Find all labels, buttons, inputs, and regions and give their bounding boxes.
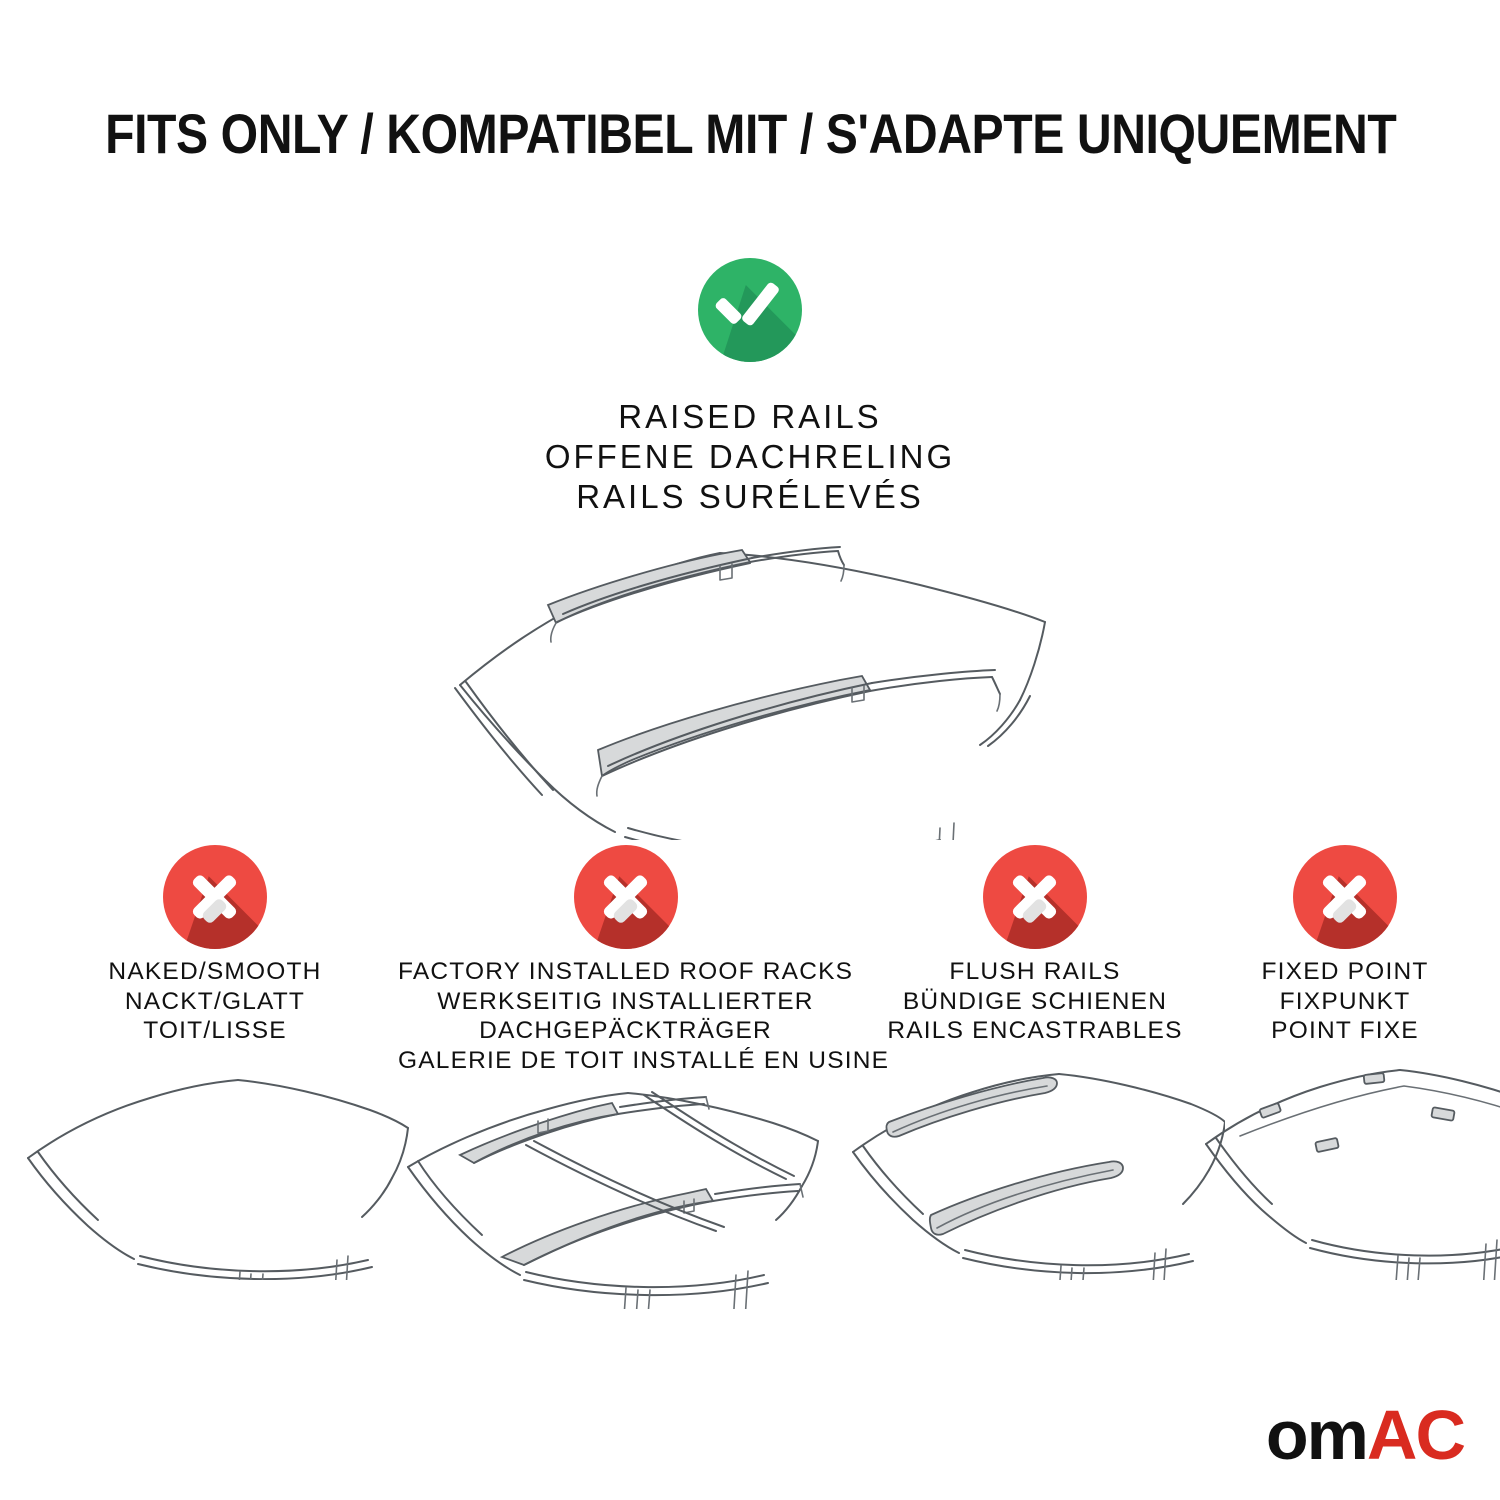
x-circle-icon-wrap-2 [398, 845, 853, 957]
item-label-de: BÜNDIGE SCHIENEN [845, 987, 1225, 1017]
item-label-fr: TOIT/LISSE [20, 1016, 410, 1046]
item-label-fr: RAILS ENCASTRABLES [845, 1016, 1225, 1046]
page-title-text: FITS ONLY / KOMPATIBEL MIT / S'ADAPTE UN… [105, 104, 1396, 164]
item-labels-3: FLUSH RAILS BÜNDIGE SCHIENEN RAILS ENCAS… [845, 957, 1225, 1046]
item-label-en: NAKED/SMOOTH [20, 957, 410, 987]
x-circle-icon [163, 845, 267, 949]
item-label-en: FLUSH RAILS [845, 957, 1225, 987]
item-label-en: FACTORY INSTALLED ROOF RACKS [398, 957, 853, 987]
compatible-label-en: RAISED RAILS [0, 397, 1500, 437]
compatible-label-de: OFFENE DACHRELING [0, 437, 1500, 477]
x-circle-icon-wrap-3 [845, 845, 1225, 957]
item-label-de-1: WERKSEITIG INSTALLIERTER [398, 987, 853, 1017]
logo-text-accent: AC [1367, 1396, 1464, 1474]
x-glyph [1007, 869, 1063, 925]
x-glyph [598, 869, 654, 925]
raised-rails-illustration [420, 510, 1100, 840]
item-label-en: FIXED POINT [1200, 957, 1490, 987]
omac-logo: omAC [1266, 1400, 1464, 1470]
item-labels-1: NAKED/SMOOTH NACKT/GLATT TOIT/LISSE [20, 957, 410, 1046]
item-label-de: FIXPUNKT [1200, 987, 1490, 1017]
incompatible-item-factory-racks: FACTORY INSTALLED ROOF RACKS WERKSEITIG … [398, 845, 853, 1309]
check-glyph [722, 289, 778, 324]
x-circle-icon [574, 845, 678, 949]
x-circle-icon [1293, 845, 1397, 949]
logo-text-dark: om [1266, 1396, 1367, 1474]
item-labels-2: FACTORY INSTALLED ROOF RACKS WERKSEITIG … [398, 957, 853, 1075]
item-label-fr: POINT FIXE [1200, 1016, 1490, 1046]
x-glyph [1317, 869, 1373, 925]
compatible-section: RAISED RAILS OFFENE DACHRELING RAILS SUR… [0, 258, 1500, 517]
item-label-de: NACKT/GLATT [20, 987, 410, 1017]
x-circle-icon [983, 845, 1087, 949]
item-labels-4: FIXED POINT FIXPUNKT POINT FIXE [1200, 957, 1490, 1046]
check-circle-icon [698, 258, 802, 362]
factory-crossbars-illustration [398, 1089, 853, 1309]
incompatible-item-naked-smooth: NAKED/SMOOTH NACKT/GLATT TOIT/LISSE [20, 845, 410, 1280]
bare-roof-illustration [20, 1060, 410, 1280]
x-glyph [187, 869, 243, 925]
item-label-fr: GALERIE DE TOIT INSTALLÉ EN USINE [398, 1046, 853, 1076]
x-circle-icon-wrap-1 [20, 845, 410, 957]
incompatible-item-flush-rails: FLUSH RAILS BÜNDIGE SCHIENEN RAILS ENCAS… [845, 845, 1225, 1280]
incompatible-item-fixed-point: FIXED POINT FIXPUNKT POINT FIXE [1200, 845, 1490, 1280]
incompatible-row: NAKED/SMOOTH NACKT/GLATT TOIT/LISSE [0, 845, 1500, 1485]
x-circle-icon-wrap-4 [1200, 845, 1490, 957]
compatible-labels: RAISED RAILS OFFENE DACHRELING RAILS SUR… [0, 397, 1500, 517]
page-title: FITS ONLY / KOMPATIBEL MIT / S'ADAPTE UN… [0, 104, 1500, 164]
item-label-de-2: DACHGEPÄCKTRÄGER [398, 1016, 853, 1046]
fixed-points-illustration [1200, 1060, 1490, 1280]
flush-rails-illustration [845, 1060, 1225, 1280]
